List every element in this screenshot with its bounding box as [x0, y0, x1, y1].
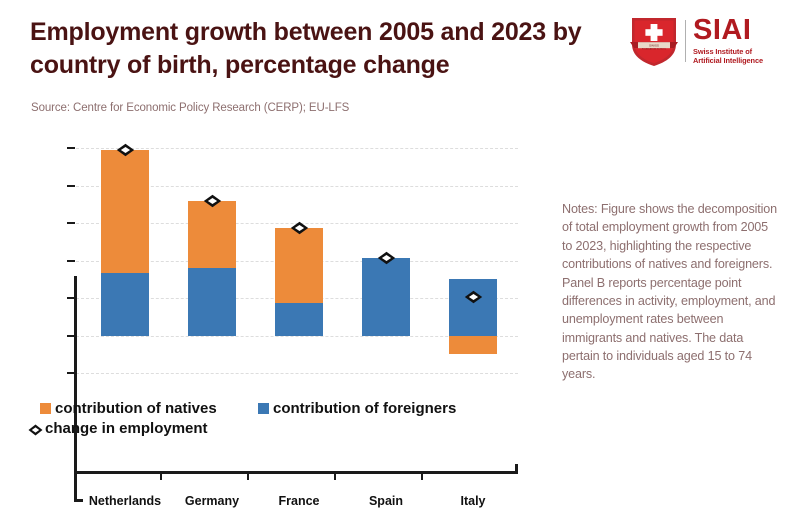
change-in-employment-marker: [203, 194, 222, 208]
change-in-employment-marker: [464, 290, 483, 304]
x-axis-tick: [160, 473, 162, 480]
svg-text:SWISS: SWISS: [649, 44, 659, 48]
page-title: Employment growth between 2005 and 2023 …: [30, 16, 630, 82]
y-axis-tick: [67, 260, 75, 262]
logo-subtitle: Swiss Institute of Artificial Intelligen…: [693, 47, 786, 65]
gridline: [76, 373, 518, 374]
logo-acronym: SIAI: [693, 17, 786, 45]
legend-label: contribution of foreigners: [273, 400, 456, 417]
chart-legend: contribution of nativescontribution of f…: [0, 398, 555, 446]
legend-square-swatch-icon: [258, 403, 269, 414]
legend-item[interactable]: contribution of foreigners: [258, 400, 456, 417]
x-axis-tick: [247, 473, 249, 480]
x-axis-tick: [421, 473, 423, 480]
legend-item[interactable]: change in employment: [28, 420, 208, 437]
change-in-employment-marker: [116, 143, 135, 157]
y-axis-tick: [67, 222, 75, 224]
change-in-employment-marker: [290, 221, 309, 235]
bar-segment-natives: [275, 228, 323, 303]
y-axis-bottom-cap: [74, 499, 83, 502]
bar-segment-foreigners: [275, 303, 323, 335]
y-axis-tick: [67, 147, 75, 149]
siai-logo: SWISS FOUNDATION SCHOOL SIAI Swiss Insti…: [628, 12, 786, 70]
bar-segment-foreigners: [449, 279, 497, 336]
logo-divider: [685, 20, 686, 62]
y-axis-tick: [67, 185, 75, 187]
legend-label: contribution of natives: [55, 400, 217, 417]
bar-segment-natives: [101, 150, 149, 274]
legend-item[interactable]: contribution of natives: [40, 400, 217, 417]
chart-header: Employment growth between 2005 and 2023 …: [0, 0, 800, 128]
legend-square-swatch-icon: [40, 403, 51, 414]
change-in-employment-marker: [377, 251, 396, 265]
legend-label: change in employment: [45, 420, 208, 437]
y-axis-line: [74, 276, 77, 502]
svg-text:FOUNDATION SCHOOL: FOUNDATION SCHOOL: [642, 47, 667, 50]
bar-segment-natives: [449, 336, 497, 355]
bar-segment-foreigners: [362, 258, 410, 335]
source-note: Source: Centre for Economic Policy Resea…: [31, 102, 349, 114]
x-axis-category-label: Italy: [418, 494, 528, 508]
bar-segment-foreigners: [101, 273, 149, 335]
bar-segment-natives: [188, 201, 236, 269]
notes-panel: Notes: Figure shows the decomposition of…: [562, 200, 780, 384]
zero-baseline: [74, 471, 518, 474]
logo-wordmark: SIAI Swiss Institute of Artificial Intel…: [693, 17, 786, 65]
logo-subtitle-line2: Artificial Intelligence: [693, 56, 786, 65]
bar-segment-foreigners: [188, 268, 236, 336]
logo-subtitle-line1: Swiss Institute of: [693, 47, 786, 56]
swiss-cross-shield-icon: SWISS FOUNDATION SCHOOL: [628, 14, 680, 68]
legend-diamond-swatch-icon: [28, 423, 43, 435]
zero-baseline-endcap: [515, 464, 518, 473]
x-axis-tick: [334, 473, 336, 480]
